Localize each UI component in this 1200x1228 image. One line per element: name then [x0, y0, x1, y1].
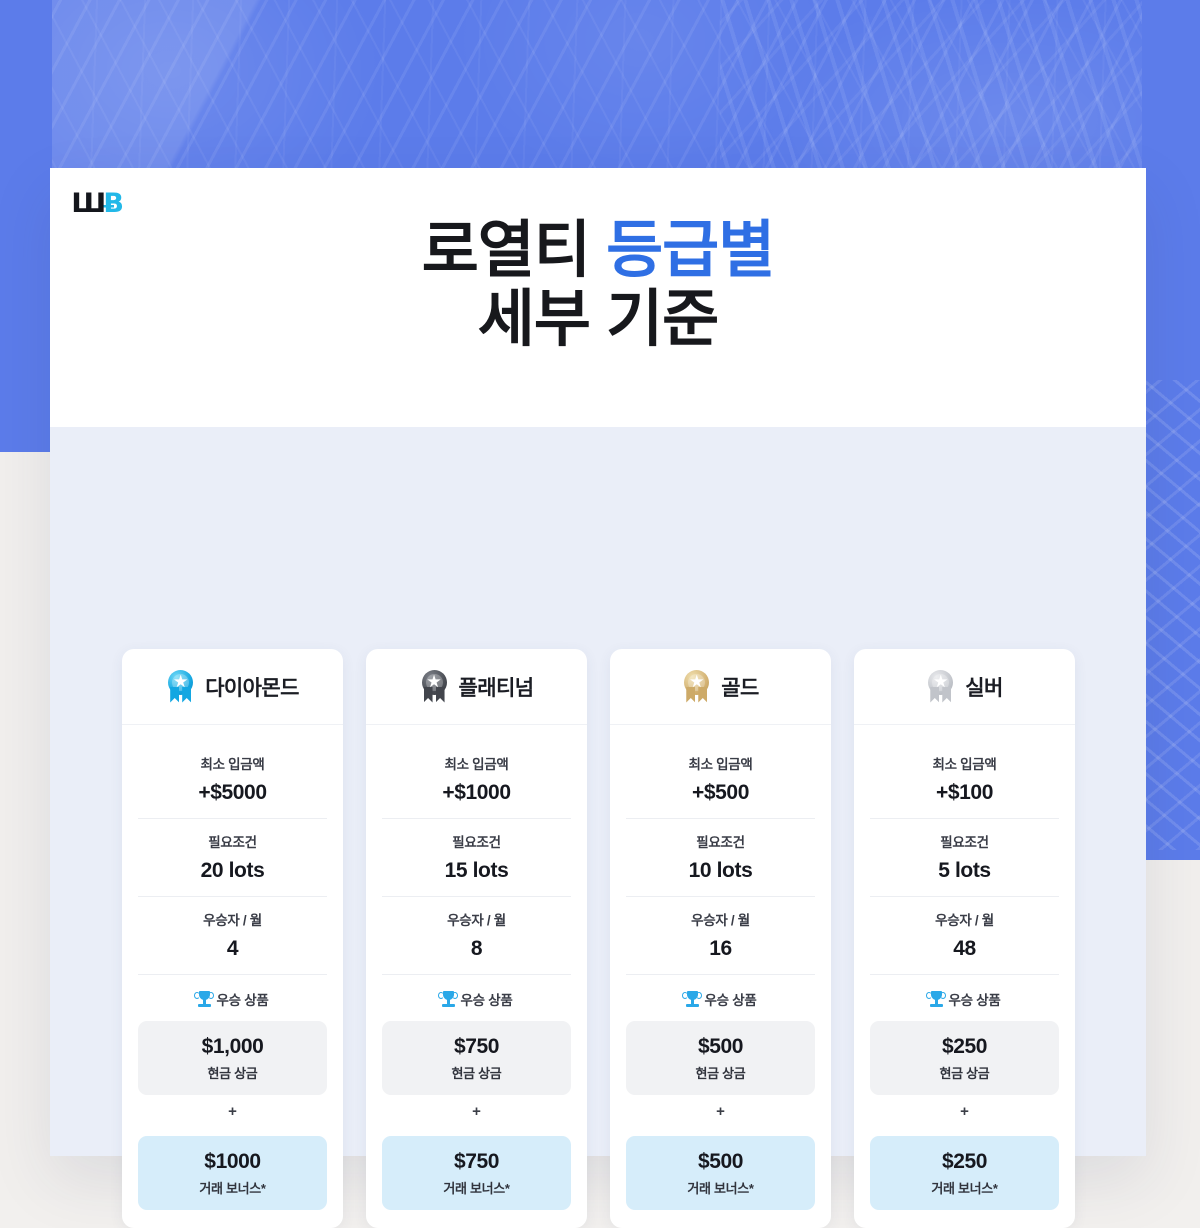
tier-card-body: 최소 입금액 +$500 필요조건 10 lots 우승자 / 월 16 [610, 725, 831, 1228]
trade-bonus-label: 거래 보너스* [632, 1178, 809, 1197]
min-deposit-label: 최소 입금액 [382, 753, 571, 773]
plus-separator: + [870, 1095, 1059, 1124]
requirement-block: 필요조건 20 lots [138, 818, 327, 896]
prize-heading-label: 우승 상품 [217, 989, 269, 1009]
min-deposit-block: 최소 입금액 +$500 [626, 741, 815, 818]
min-deposit-value: +$100 [870, 781, 1059, 805]
plus-separator: + [138, 1095, 327, 1124]
winners-block: 우승자 / 월 16 [626, 896, 815, 974]
requirement-block: 필요조건 5 lots [870, 818, 1059, 896]
prize-heading-label: 우승 상품 [461, 989, 513, 1009]
tier-card-body: 최소 입금액 +$5000 필요조건 20 lots 우승자 / 월 4 [122, 725, 343, 1228]
requirement-label: 필요조건 [870, 831, 1059, 851]
min-deposit-label: 최소 입금액 [870, 753, 1059, 773]
tier-name: 골드 [721, 672, 758, 702]
winners-value: 16 [626, 937, 815, 961]
trade-bonus-box: $500 거래 보너스* [626, 1136, 815, 1210]
cash-prize-box: $250 현금 상금 [870, 1021, 1059, 1095]
trade-bonus-box: $750 거래 보너스* [382, 1136, 571, 1210]
tier-card-header: 다이아몬드 [122, 649, 343, 725]
tier-cards-row: 다이아몬드 최소 입금액 +$5000 필요조건 20 lots 우승자 / 월 [122, 649, 1075, 1228]
min-deposit-label: 최소 입금액 [138, 753, 327, 773]
medal-icon [682, 670, 712, 704]
trophy-icon [197, 991, 212, 1008]
brand-logo-mark-primary: Ш [71, 190, 105, 217]
prize-heading: 우승 상품 [382, 974, 571, 1009]
cash-prize-label: 현금 상금 [876, 1063, 1053, 1082]
page-title: 로열티 등급별 세부 기준 [50, 216, 1146, 355]
tier-name: 실버 [965, 672, 1002, 702]
winners-block: 우승자 / 월 4 [138, 896, 327, 974]
winners-label: 우승자 / 월 [870, 909, 1059, 929]
tier-card-body: 최소 입금액 +$1000 필요조건 15 lots 우승자 / 월 8 [366, 725, 587, 1228]
trophy-icon [441, 991, 456, 1008]
winners-label: 우승자 / 월 [626, 909, 815, 929]
requirement-value: 10 lots [626, 859, 815, 883]
trophy-icon [929, 991, 944, 1008]
left-blue-rail [0, 0, 52, 452]
plus-separator: + [382, 1095, 571, 1124]
requirement-label: 필요조건 [138, 831, 327, 851]
min-deposit-label: 최소 입금액 [626, 753, 815, 773]
prize-heading: 우승 상품 [138, 974, 327, 1009]
trophy-icon [685, 991, 700, 1008]
prize-heading-label: 우승 상품 [949, 989, 1001, 1009]
requirement-block: 필요조건 10 lots [626, 818, 815, 896]
medal-icon [166, 670, 196, 704]
requirement-block: 필요조건 15 lots [382, 818, 571, 896]
tier-card-header: 실버 [854, 649, 1075, 725]
plus-separator: + [626, 1095, 815, 1124]
cash-prize-amount: $750 [388, 1035, 565, 1059]
tier-card-header: 플래티넘 [366, 649, 587, 725]
min-deposit-value: +$500 [626, 781, 815, 805]
trade-bonus-label: 거래 보너스* [388, 1178, 565, 1197]
requirement-value: 15 lots [382, 859, 571, 883]
min-deposit-value: +$1000 [382, 781, 571, 805]
tier-card[interactable]: 골드 최소 입금액 +$500 필요조건 10 lots 우승자 / 월 [610, 649, 831, 1228]
cash-prize-amount: $500 [632, 1035, 809, 1059]
trade-bonus-amount: $500 [632, 1150, 809, 1174]
medal-icon [926, 670, 956, 704]
tier-card[interactable]: 다이아몬드 최소 입금액 +$5000 필요조건 20 lots 우승자 / 월 [122, 649, 343, 1228]
cash-prize-box: $500 현금 상금 [626, 1021, 815, 1095]
page-title-line1-plain: 로열티 [422, 216, 606, 285]
winners-label: 우승자 / 월 [138, 909, 327, 929]
page-root: Ш Ƀ 로열티 등급별 세부 기준 다이아몬드 [0, 0, 1200, 1200]
trade-bonus-amount: $250 [876, 1150, 1053, 1174]
right-blue-rail [1142, 0, 1200, 860]
page-title-line1-accent: 등급별 [606, 216, 774, 285]
cash-prize-box: $750 현금 상금 [382, 1021, 571, 1095]
cash-prize-amount: $1,000 [144, 1035, 321, 1059]
trade-bonus-label: 거래 보너스* [144, 1178, 321, 1197]
cash-prize-box: $1,000 현금 상금 [138, 1021, 327, 1095]
panel-header: Ш Ƀ 로열티 등급별 세부 기준 [50, 168, 1146, 427]
trade-bonus-amount: $1000 [144, 1150, 321, 1174]
min-deposit-block: 최소 입금액 +$1000 [382, 741, 571, 818]
winners-block: 우승자 / 월 48 [870, 896, 1059, 974]
tier-name: 다이아몬드 [205, 672, 299, 702]
min-deposit-block: 최소 입금액 +$5000 [138, 741, 327, 818]
min-deposit-value: +$5000 [138, 781, 327, 805]
prize-heading-label: 우승 상품 [705, 989, 757, 1009]
tiers-section: 다이아몬드 최소 입금액 +$5000 필요조건 20 lots 우승자 / 월 [50, 427, 1146, 1156]
tier-card-header: 골드 [610, 649, 831, 725]
tier-card[interactable]: 플래티넘 최소 입금액 +$1000 필요조건 15 lots 우승자 / 월 [366, 649, 587, 1228]
page-title-line2: 세부 기준 [50, 285, 1146, 354]
cash-prize-label: 현금 상금 [388, 1063, 565, 1082]
requirement-value: 20 lots [138, 859, 327, 883]
winners-value: 48 [870, 937, 1059, 961]
requirement-value: 5 lots [870, 859, 1059, 883]
cash-prize-amount: $250 [876, 1035, 1053, 1059]
trade-bonus-amount: $750 [388, 1150, 565, 1174]
requirement-label: 필요조건 [626, 831, 815, 851]
brand-logo[interactable]: Ш Ƀ [72, 190, 123, 217]
medal-icon [420, 670, 450, 704]
trade-bonus-label: 거래 보너스* [876, 1178, 1053, 1197]
winners-label: 우승자 / 월 [382, 909, 571, 929]
winners-block: 우승자 / 월 8 [382, 896, 571, 974]
winners-value: 8 [382, 937, 571, 961]
cash-prize-label: 현금 상금 [144, 1063, 321, 1082]
prize-heading: 우승 상품 [626, 974, 815, 1009]
brand-logo-mark-accent: Ƀ [103, 190, 123, 217]
hero-photo-texture-rail [1142, 380, 1200, 850]
tier-name: 플래티넘 [459, 672, 534, 702]
tier-card[interactable]: 실버 최소 입금액 +$100 필요조건 5 lots 우승자 / 월 [854, 649, 1075, 1228]
content-panel: Ш Ƀ 로열티 등급별 세부 기준 다이아몬드 [50, 168, 1146, 1156]
winners-value: 4 [138, 937, 327, 961]
requirement-label: 필요조건 [382, 831, 571, 851]
cash-prize-label: 현금 상금 [632, 1063, 809, 1082]
min-deposit-block: 최소 입금액 +$100 [870, 741, 1059, 818]
trade-bonus-box: $1000 거래 보너스* [138, 1136, 327, 1210]
trade-bonus-box: $250 거래 보너스* [870, 1136, 1059, 1210]
prize-heading: 우승 상품 [870, 974, 1059, 1009]
tier-card-body: 최소 입금액 +$100 필요조건 5 lots 우승자 / 월 48 [854, 725, 1075, 1228]
